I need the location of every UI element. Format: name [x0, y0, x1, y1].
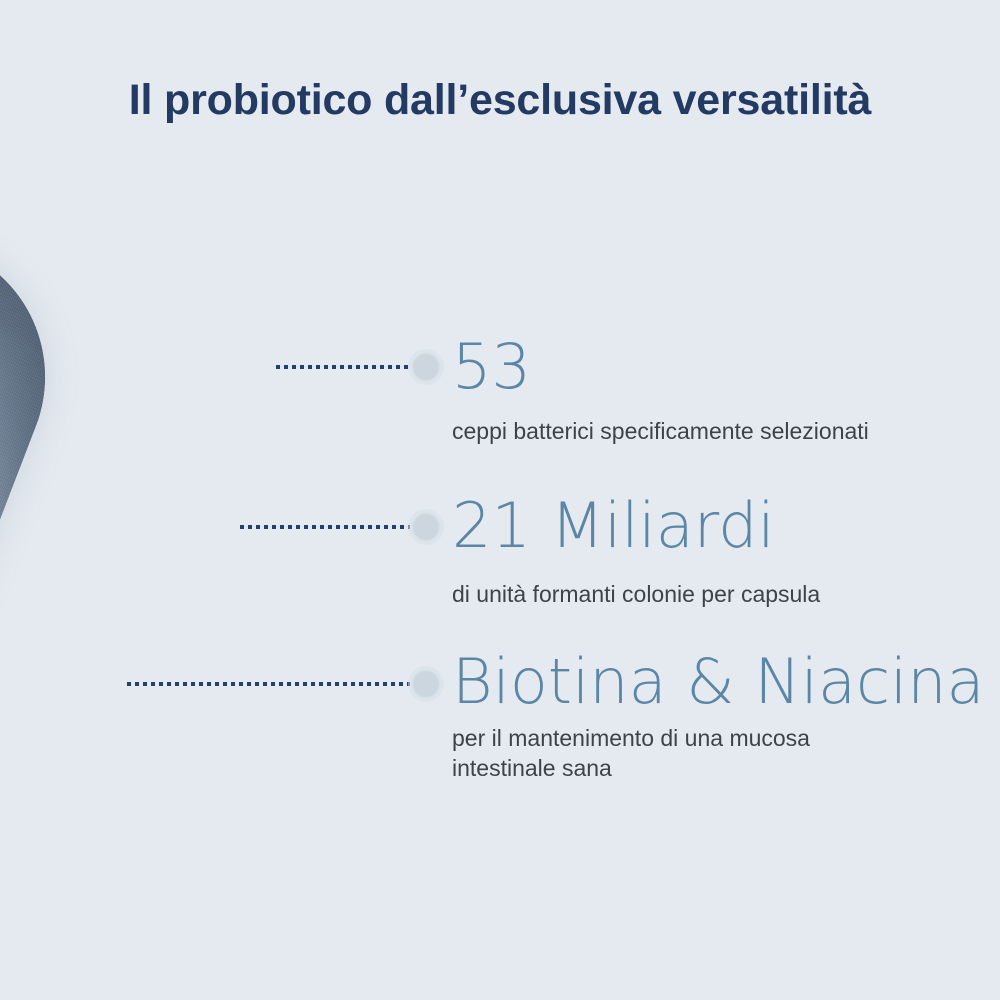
leader-line-1 [276, 365, 410, 369]
leader-marker-2 [411, 512, 441, 542]
page-title: Il probiotico dall’esclusiva versatilità [0, 76, 1000, 125]
stat-headline-2: 21 Miliardi [452, 495, 820, 557]
probiotic-capsule-image [0, 200, 85, 1000]
stat-description-2: di unità formanti colonie per capsula [452, 579, 820, 609]
stat-description-3: per il mantenimento di una mucosa intest… [452, 723, 985, 784]
infographic-page: Il probiotico dall’esclusiva versatilità… [0, 0, 1000, 1000]
stat-headline-1: 53 [452, 336, 869, 398]
leader-marker-1 [411, 352, 441, 382]
stat-headline-3: Biotina & Niacina [452, 651, 985, 713]
capsule-texture-overlay [0, 200, 85, 1000]
stat-block-1: 53 ceppi batterici specificamente selezi… [452, 336, 869, 446]
leader-line-2 [240, 525, 410, 529]
stat-description-1: ceppi batterici specificamente seleziona… [452, 416, 869, 446]
stat-block-3: Biotina & Niacina per il mantenimento di… [452, 651, 985, 784]
leader-marker-3 [411, 669, 441, 699]
stat-block-2: 21 Miliardi di unità formanti colonie pe… [452, 495, 820, 609]
leader-line-3 [127, 682, 410, 686]
